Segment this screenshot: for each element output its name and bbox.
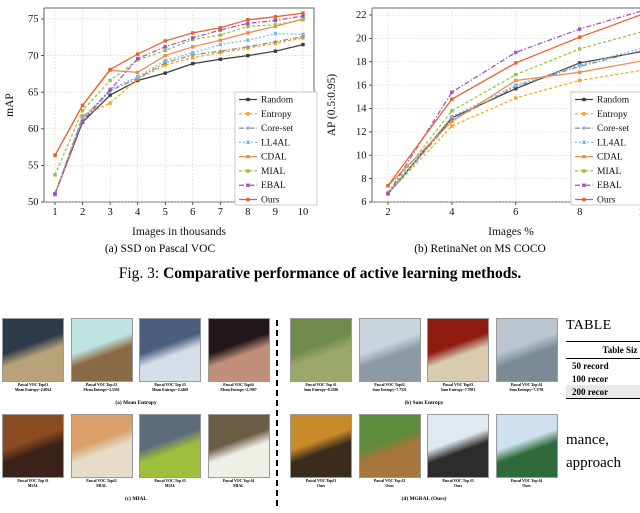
panel-label: (c) MIAL (2, 496, 270, 502)
grid-cell[interactable]: Pascal VOC Top #1MIAL (2, 414, 64, 489)
figure-3-charts: 12345678910505560657075Images in thousan… (0, 0, 640, 238)
figure-caption-text: Comparative performance of active learni… (163, 265, 521, 282)
svg-text:AP (0.5:0.95): AP (0.5:0.95) (326, 74, 338, 137)
image-caption-line-2: Sum Entropy=7.7521 (359, 388, 421, 393)
svg-text:Core-set: Core-set (597, 124, 630, 134)
image-caption-line-2: Mean Entropy=2.5561 (71, 388, 133, 393)
image-caption: Pascal VOC Top#1Ours (290, 479, 352, 489)
chart-retinanet-ms-coco: 2468106810121416182022Images %AP (0.5:0.… (320, 0, 640, 238)
svg-text:Images in thousands: Images in thousands (132, 226, 226, 238)
sample-image[interactable] (2, 414, 64, 478)
grid-cell[interactable]: Pascal VOC Top #3Mean Entropy=2.2469 (139, 318, 201, 393)
svg-text:6: 6 (190, 207, 195, 218)
svg-text:Images %: Images % (488, 226, 534, 238)
svg-text:MIAL: MIAL (597, 167, 621, 177)
svg-text:8: 8 (577, 207, 582, 218)
grid-cell[interactable]: Pascal VOC Top#2MIAL (71, 414, 133, 489)
svg-text:LL4AL: LL4AL (261, 138, 290, 148)
sample-image[interactable] (496, 318, 558, 382)
table-header-cell: Table Siz (566, 342, 640, 358)
grid-cell[interactable]: Pascal VOC Top #4Ours (496, 414, 558, 489)
image-row: Pascal VOC Top#1Mean Entropy=2.6054Pasca… (2, 318, 270, 408)
svg-text:20: 20 (356, 34, 367, 45)
grid-cell[interactable]: Pascal VOC Top#3Sum Entropy=7.7081 (427, 318, 489, 393)
image-caption-line-2: Ours (359, 484, 421, 489)
image-caption-line-2: Ours (427, 484, 489, 489)
svg-text:65: 65 (28, 87, 39, 98)
image-caption: Pascal VOC Top#2Sum Entropy=7.7521 (359, 383, 421, 393)
svg-text:9: 9 (273, 207, 278, 218)
image-caption-line-2: Sum Entropy=7.3701 (496, 388, 558, 393)
sample-image[interactable] (290, 318, 352, 382)
image-row: Pascal VOC Top#1OursPascal VOC Top #2Our… (290, 414, 558, 504)
table-body: 50 record100 recor200 recor (566, 359, 640, 398)
image-caption: Pascal VOC Top #4Ours (496, 479, 558, 489)
svg-text:18: 18 (356, 57, 367, 68)
svg-text:10: 10 (298, 207, 309, 218)
sample-image[interactable] (427, 318, 489, 382)
sample-image[interactable] (496, 414, 558, 478)
svg-text:EBAL: EBAL (261, 181, 286, 191)
grid-cell[interactable]: Pascal VOC Top#1Ours (290, 414, 352, 489)
svg-text:70: 70 (28, 51, 39, 62)
table-row: 100 recor (566, 372, 640, 385)
image-caption: Pascal VOC Top#2MIAL (71, 479, 133, 489)
paper-page: 12345678910505560657075Images in thousan… (0, 0, 640, 513)
right-column: TABLE Table Siz 50 record100 recor200 re… (566, 318, 640, 476)
sample-image[interactable] (71, 318, 133, 382)
figure-caption-lead: Fig. 3: (119, 265, 159, 282)
chart-ssd-pascal-voc: 12345678910505560657075Images in thousan… (0, 0, 320, 238)
image-caption: Pascal VOC Top #2Ours (359, 479, 421, 489)
image-caption: Pascal VOC Top #4MIAL (208, 479, 270, 489)
svg-text:6: 6 (361, 197, 366, 208)
grid-half-left: Pascal VOC Top#1Mean Entropy=2.6054Pasca… (2, 318, 270, 510)
svg-text:12: 12 (356, 127, 367, 138)
sample-image[interactable] (359, 318, 421, 382)
image-caption: Pascal VOC Top #2Mean Entropy=2.5561 (71, 383, 133, 393)
figure-caption: Fig. 3: Comparative performance of activ… (0, 265, 640, 283)
svg-text:50: 50 (28, 197, 39, 208)
svg-text:EBAL: EBAL (597, 181, 622, 191)
sample-image[interactable] (208, 318, 270, 382)
svg-text:7: 7 (218, 207, 223, 218)
grid-cell[interactable]: Pascal VOC Top #2Ours (359, 414, 421, 489)
image-caption-line-2: Mean Entropy=2.1987 (208, 388, 270, 393)
image-caption-line-2: Mean Entropy=2.2469 (139, 388, 201, 393)
grid-half-right: Pascal VOC Top #1Sum Entropy=8.2586Pasca… (290, 318, 558, 510)
sample-image[interactable] (71, 414, 133, 478)
panel-label: (b) Sum Entropy (290, 400, 558, 406)
svg-text:60: 60 (28, 124, 39, 135)
grid-cell[interactable]: Pascal VOC Top #4Sum Entropy=7.3701 (496, 318, 558, 393)
sample-image[interactable] (139, 414, 201, 478)
sample-image[interactable] (359, 414, 421, 478)
svg-text:55: 55 (28, 161, 39, 172)
svg-text:2: 2 (385, 207, 390, 218)
sample-image[interactable] (290, 414, 352, 478)
svg-text:22: 22 (356, 10, 367, 21)
svg-text:Entropy: Entropy (261, 110, 292, 120)
svg-text:2: 2 (80, 207, 85, 218)
panel-label: (d) MGRAL (Ours) (290, 496, 558, 502)
svg-text:8: 8 (361, 174, 366, 185)
results-table: Table Siz 50 record100 recor200 recor (566, 341, 640, 399)
image-row: Pascal VOC Top #1MIALPascal VOC Top#2MIA… (2, 414, 270, 504)
image-caption: Pascal VOC Top#1Mean Entropy=2.6054 (2, 383, 64, 393)
table-bottom-rule (566, 398, 640, 399)
body-paragraph: mance, approach (566, 429, 640, 476)
svg-text:10: 10 (356, 150, 367, 161)
grid-vertical-divider (276, 320, 278, 506)
image-caption: Pascal VOC Top #3MIAL (139, 479, 201, 489)
svg-text:LL4AL: LL4AL (597, 138, 626, 148)
svg-text:14: 14 (356, 104, 367, 115)
svg-text:4: 4 (449, 207, 455, 218)
svg-text:Ours: Ours (261, 196, 280, 206)
image-caption-line-2: Sum Entropy=7.7081 (427, 388, 489, 393)
svg-text:CDAL: CDAL (597, 153, 623, 163)
svg-text:MIAL: MIAL (261, 167, 285, 177)
svg-text:Core-set: Core-set (261, 124, 294, 134)
body-line-2: approach (566, 452, 640, 475)
table-title: TABLE (566, 318, 640, 334)
grid-cell[interactable]: Pascal VOC Top #3MIAL (139, 414, 201, 489)
grid-cell[interactable]: Pascal VOC Top #3Ours (427, 414, 489, 489)
table-row: 200 recor (566, 385, 640, 398)
image-caption-line-2: MIAL (2, 484, 64, 489)
svg-text:6: 6 (513, 207, 518, 218)
grid-cell[interactable]: Pascal VOC Top#4Mean Entropy=2.1987 (208, 318, 270, 393)
image-caption-line-2: MIAL (139, 484, 201, 489)
image-caption: Pascal VOC Top #3Ours (427, 479, 489, 489)
grid-cell[interactable]: Pascal VOC Top#2Sum Entropy=7.7521 (359, 318, 421, 393)
panel-label: (a) Mean Entropy (2, 400, 270, 406)
image-caption-line-2: Ours (496, 484, 558, 489)
svg-text:Ours: Ours (597, 196, 616, 206)
image-caption: Pascal VOC Top #1MIAL (2, 479, 64, 489)
svg-text:CDAL: CDAL (261, 153, 287, 163)
svg-text:Random: Random (597, 96, 630, 106)
svg-text:Entropy: Entropy (597, 110, 628, 120)
svg-text:3: 3 (107, 207, 112, 218)
svg-text:75: 75 (28, 14, 39, 25)
image-caption-line-2: Sum Entropy=8.2586 (290, 388, 352, 393)
grid-cell[interactable]: Pascal VOC Top#1Mean Entropy=2.6054 (2, 318, 64, 393)
qualitative-image-grid: Pascal VOC Top#1Mean Entropy=2.6054Pasca… (2, 318, 558, 510)
body-line-1: mance, (566, 429, 640, 452)
svg-text:1: 1 (52, 207, 57, 218)
image-caption: Pascal VOC Top#4Mean Entropy=2.1987 (208, 383, 270, 393)
image-caption: Pascal VOC Top#3Sum Entropy=7.7081 (427, 383, 489, 393)
image-caption: Pascal VOC Top #4Sum Entropy=7.3701 (496, 383, 558, 393)
image-caption: Pascal VOC Top #1Sum Entropy=8.2586 (290, 383, 352, 393)
subcaption-b: (b) RetinaNet on MS COCO (320, 243, 640, 255)
sample-image[interactable] (139, 318, 201, 382)
svg-text:Random: Random (261, 96, 294, 106)
image-row: Pascal VOC Top #1Sum Entropy=8.2586Pasca… (290, 318, 558, 408)
subcaption-a: (a) SSD on Pascal VOC (0, 243, 320, 255)
sample-image[interactable] (2, 318, 64, 382)
grid-cell[interactable]: Pascal VOC Top #4MIAL (208, 414, 270, 489)
sample-image[interactable] (427, 414, 489, 478)
image-caption-line-2: Mean Entropy=2.6054 (2, 388, 64, 393)
image-caption-line-2: MIAL (208, 484, 270, 489)
image-caption-line-2: Ours (290, 484, 352, 489)
table-row: 50 record (566, 359, 640, 372)
svg-text:16: 16 (356, 80, 367, 91)
grid-cell[interactable]: Pascal VOC Top #2Mean Entropy=2.5561 (71, 318, 133, 393)
grid-cell[interactable]: Pascal VOC Top #1Sum Entropy=8.2586 (290, 318, 352, 393)
svg-text:mAP: mAP (4, 93, 16, 117)
sample-image[interactable] (208, 414, 270, 478)
svg-text:5: 5 (163, 207, 168, 218)
svg-text:4: 4 (135, 207, 141, 218)
image-caption-line-2: MIAL (71, 484, 133, 489)
image-caption: Pascal VOC Top #3Mean Entropy=2.2469 (139, 383, 201, 393)
svg-text:8: 8 (245, 207, 250, 218)
